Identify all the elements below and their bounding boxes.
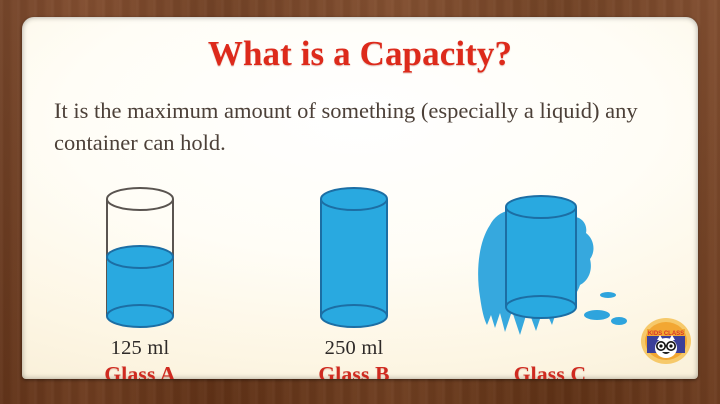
svg-text:KIDS CLASS: KIDS CLASS [648, 331, 684, 337]
glass-name-label: Glass C [450, 362, 650, 379]
glass-name-label: Glass A [40, 362, 240, 379]
glass-item-a: 125 ml Glass A [40, 185, 240, 379]
kids-classroom-owl-badge: KIDS CLASS [640, 315, 692, 367]
glass-volume-label: 125 ml [40, 337, 240, 362]
full-glass-icon [254, 185, 454, 335]
glass-item-b: 250 ml Glass B [254, 185, 454, 379]
slide-frame: What is a Capacity? It is the maximum am… [0, 0, 720, 404]
overflowing-glass-icon [450, 185, 650, 335]
glass-volume-label: 250 ml [254, 337, 454, 362]
definition-text: It is the maximum amount of something (e… [54, 95, 674, 159]
page-title: What is a Capacity? [22, 34, 698, 74]
glass-name-label: Glass B [254, 362, 454, 379]
glass-item-c: Glass C [450, 185, 650, 379]
half-filled-glass-icon [40, 185, 240, 335]
slide-panel: What is a Capacity? It is the maximum am… [22, 17, 698, 379]
